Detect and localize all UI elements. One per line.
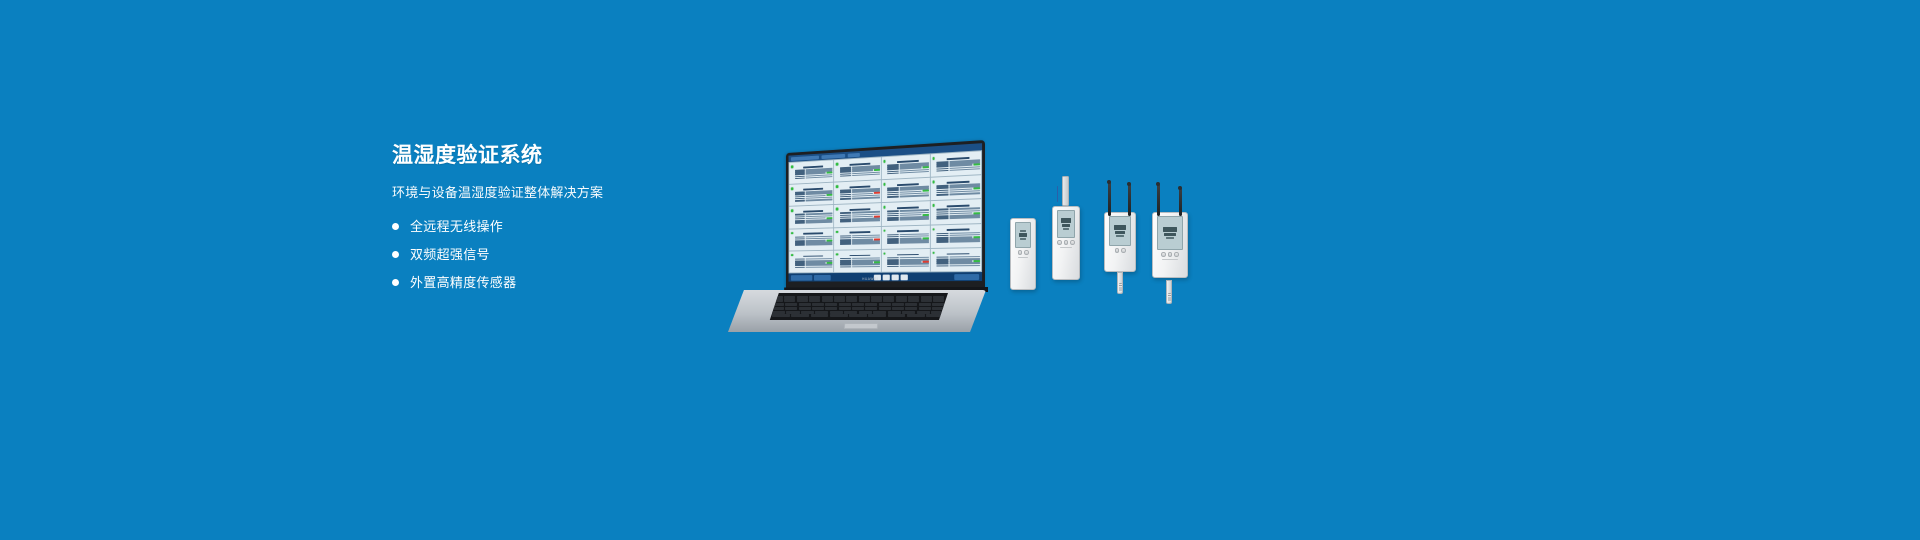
sensor-card[interactable] xyxy=(931,224,982,248)
sensor-card-title xyxy=(947,253,970,255)
bullet-dot-icon xyxy=(392,251,399,258)
device-brand-strip xyxy=(1162,259,1178,260)
device-keypad[interactable] xyxy=(1161,252,1179,257)
product-banner: 温湿度验证系统 环境与设备温湿度验证整体解决方案 全远程无线操作 双频超强信号 … xyxy=(0,0,1920,540)
device-keypad[interactable] xyxy=(1018,250,1029,255)
device-body xyxy=(1152,212,1188,278)
keyboard-key[interactable] xyxy=(871,296,882,299)
reading-label xyxy=(795,200,806,202)
keyboard-key[interactable] xyxy=(873,311,886,314)
reading-value xyxy=(852,220,880,222)
feature-item-2: 双频超强信号 xyxy=(392,248,692,261)
sensor-card[interactable] xyxy=(834,227,880,250)
keyboard-key[interactable] xyxy=(919,307,931,310)
reading-value xyxy=(852,243,880,245)
keyboard-key[interactable] xyxy=(785,307,797,310)
sensor-card-title xyxy=(804,210,824,212)
sensor-card-body xyxy=(793,184,833,205)
antenna-icon xyxy=(1108,182,1111,216)
laptop-trackpad[interactable] xyxy=(844,323,879,329)
device-lcd xyxy=(1057,210,1075,238)
keyboard-key[interactable] xyxy=(908,299,919,302)
keyboard-key[interactable] xyxy=(852,303,864,306)
reading-value xyxy=(950,240,981,242)
bullet-dot-icon xyxy=(392,279,399,286)
sensor-card-title xyxy=(804,233,824,235)
reading-label xyxy=(937,194,949,196)
sensor-reading-row xyxy=(840,220,880,223)
keyboard-key[interactable] xyxy=(799,307,811,310)
feature-label: 全远程无线操作 xyxy=(410,220,503,233)
reading-value xyxy=(950,265,981,267)
reading-value xyxy=(900,171,929,174)
sensor-card[interactable] xyxy=(834,180,880,204)
keyboard-key[interactable] xyxy=(830,311,843,314)
keyboard-key[interactable] xyxy=(822,299,833,302)
reading-label xyxy=(887,196,898,198)
keyboard-key[interactable] xyxy=(933,296,944,299)
reading-label xyxy=(840,243,851,245)
probe-sensor-tip xyxy=(1166,280,1172,304)
keyboard-key[interactable] xyxy=(785,303,797,306)
sensor-card[interactable] xyxy=(931,200,982,225)
sensor-card[interactable] xyxy=(834,250,880,272)
keyboard-key[interactable] xyxy=(879,303,891,306)
reading-label xyxy=(795,177,806,179)
reading-label xyxy=(887,172,898,174)
sensor-card-title xyxy=(849,231,870,233)
sensor-card-body xyxy=(885,179,928,201)
sensor-card-body xyxy=(793,161,833,183)
keyboard-key[interactable] xyxy=(907,314,925,317)
lcd-row xyxy=(1019,233,1026,236)
keyboard-key[interactable] xyxy=(933,299,944,302)
lcd-row xyxy=(1114,225,1126,230)
probe-sensor-tip xyxy=(1117,272,1123,294)
keyboard-key[interactable] xyxy=(830,314,848,317)
keyboard-key[interactable] xyxy=(839,303,851,306)
reading-value xyxy=(806,176,833,179)
keyboard-key[interactable] xyxy=(825,303,837,306)
reading-value xyxy=(852,196,880,199)
banner-copy-block: 温湿度验证系统 环境与设备温湿度验证整体解决方案 全远程无线操作 双频超强信号 … xyxy=(392,142,692,304)
sensor-card-body xyxy=(935,225,980,247)
keyboard-key[interactable] xyxy=(846,299,857,302)
sensor-card[interactable] xyxy=(931,175,982,200)
device-body xyxy=(1104,212,1136,272)
sensor-reading-row xyxy=(840,196,880,199)
reading-value xyxy=(806,266,833,268)
keyboard-key[interactable] xyxy=(888,311,901,314)
sensor-card[interactable] xyxy=(881,202,929,226)
sensor-reading-row xyxy=(840,243,880,245)
lcd-row xyxy=(1164,233,1176,236)
laptop-illustration: HUAWEI xyxy=(720,140,986,298)
sensor-card-body xyxy=(838,158,879,180)
keyboard-key[interactable] xyxy=(871,299,882,302)
reading-label xyxy=(937,217,949,219)
sensor-card-title xyxy=(804,255,824,257)
device-button[interactable] xyxy=(1161,252,1166,257)
keyboard-key[interactable] xyxy=(908,296,919,299)
keyboard-key[interactable] xyxy=(809,299,820,302)
toolbar-button[interactable] xyxy=(791,275,812,281)
sensor-reading-row xyxy=(887,218,929,221)
keyboard-key[interactable] xyxy=(791,314,809,317)
reading-label xyxy=(840,198,851,200)
sensor-card-body xyxy=(838,228,879,249)
reading-label xyxy=(795,222,806,224)
keyboard-key[interactable] xyxy=(786,311,799,314)
reading-label xyxy=(840,175,851,177)
sensor-reading-row xyxy=(795,198,833,201)
keyboard-row xyxy=(772,307,944,310)
sensor-card-body xyxy=(935,249,980,271)
sensor-card-body xyxy=(838,204,879,225)
keyboard-key[interactable] xyxy=(772,314,790,317)
keyboard-key[interactable] xyxy=(812,307,824,310)
laptop-keyboard[interactable] xyxy=(768,293,948,320)
page-title: 温湿度验证系统 xyxy=(392,142,692,169)
sensor-card[interactable] xyxy=(789,205,833,228)
feature-list: 全远程无线操作 双频超强信号 外置高精度传感器 xyxy=(392,220,692,289)
laptop-brand-label: HUAWEI xyxy=(862,277,878,281)
lcd-row xyxy=(1063,228,1069,230)
device-brand-strip xyxy=(1018,257,1028,258)
keyboard-key[interactable] xyxy=(797,299,808,302)
sensor-reading-row xyxy=(937,216,981,219)
keyboard-key[interactable] xyxy=(839,307,851,310)
app-bottom-toolbar xyxy=(788,272,982,282)
antenna-icon xyxy=(1179,188,1182,216)
keyboard-key[interactable] xyxy=(921,296,932,299)
reading-value xyxy=(950,216,981,219)
sensor-card[interactable] xyxy=(931,151,982,177)
reading-value xyxy=(900,242,929,244)
sensor-card-title xyxy=(897,207,919,210)
keyboard-key[interactable] xyxy=(883,299,894,302)
device-button[interactable] xyxy=(1024,250,1029,255)
keyboard-key[interactable] xyxy=(879,307,891,310)
sensor-card-body xyxy=(793,206,833,227)
handheld-logger-small xyxy=(1010,218,1036,290)
lcd-row xyxy=(1166,237,1175,239)
sensor-card[interactable] xyxy=(789,183,833,206)
probe-cable xyxy=(1057,186,1058,202)
device-body xyxy=(1010,218,1036,290)
sensor-card-body xyxy=(793,229,833,250)
sensor-card-title xyxy=(897,254,919,256)
feature-item-3: 外置高精度传感器 xyxy=(392,276,692,289)
device-lcd xyxy=(1109,216,1131,246)
keyboard-key[interactable] xyxy=(852,307,864,310)
sensor-card-grid xyxy=(788,150,982,273)
sensor-card-title xyxy=(947,205,970,208)
sensor-card-body xyxy=(935,201,980,223)
keyboard-row xyxy=(772,296,944,299)
sensor-card-body xyxy=(885,155,928,178)
keyboard-key[interactable] xyxy=(834,296,845,299)
reading-label xyxy=(840,266,851,268)
keyboard-key[interactable] xyxy=(801,311,814,314)
keyboard-key[interactable] xyxy=(905,303,917,306)
reading-value xyxy=(806,198,833,201)
sensor-card-title xyxy=(849,208,870,210)
reading-label xyxy=(887,242,898,244)
keyboard-key[interactable] xyxy=(865,307,877,310)
reading-value xyxy=(900,265,929,267)
lcd-row xyxy=(1062,224,1070,227)
reading-value xyxy=(900,194,929,197)
keyboard-key[interactable] xyxy=(825,307,837,310)
keyboard-row xyxy=(772,303,944,306)
keyboard-key[interactable] xyxy=(932,307,944,310)
reading-label xyxy=(795,266,806,268)
sensor-device-group xyxy=(1004,182,1224,322)
keyboard-key[interactable] xyxy=(892,303,904,306)
keyboard-key[interactable] xyxy=(868,314,886,317)
device-button[interactable] xyxy=(1121,248,1126,253)
sensor-card-body xyxy=(885,226,928,247)
keyboard-key[interactable] xyxy=(815,311,828,314)
keyboard-key[interactable] xyxy=(921,299,932,302)
toolbar-button[interactable] xyxy=(814,274,831,280)
sensor-card-body xyxy=(885,250,928,271)
reading-label xyxy=(937,241,949,243)
sensor-reading-row xyxy=(795,221,833,224)
sensor-card-body xyxy=(885,203,928,225)
sensor-card[interactable] xyxy=(789,160,833,184)
sensor-card[interactable] xyxy=(931,248,982,272)
pagination-page[interactable] xyxy=(901,274,908,280)
sensor-card-body xyxy=(935,176,980,199)
device-button[interactable] xyxy=(1174,252,1179,257)
reading-value xyxy=(950,192,981,195)
pagination-page[interactable] xyxy=(883,274,890,280)
feature-item-1: 全远程无线操作 xyxy=(392,220,692,233)
keyboard-key[interactable] xyxy=(902,311,915,314)
sensor-card-title xyxy=(849,254,870,256)
keyboard-key[interactable] xyxy=(883,296,894,299)
keyboard-key[interactable] xyxy=(932,303,944,306)
keyboard-key[interactable] xyxy=(799,303,811,306)
keyboard-row xyxy=(772,311,944,314)
sensor-reading-row xyxy=(887,242,929,244)
page-subtitle: 环境与设备温湿度验证整体解决方案 xyxy=(392,184,692,202)
laptop-screen xyxy=(788,143,982,281)
keyboard-key[interactable] xyxy=(812,303,824,306)
keyboard-key[interactable] xyxy=(844,311,857,314)
antenna-icon xyxy=(1128,184,1131,216)
keyboard-key[interactable] xyxy=(917,311,930,314)
sensor-card-title xyxy=(947,229,970,231)
reading-label xyxy=(795,244,806,246)
keyboard-key[interactable] xyxy=(772,311,785,314)
feature-label: 外置高精度传感器 xyxy=(410,276,516,289)
antenna-icon xyxy=(1157,184,1160,216)
reading-value xyxy=(852,173,880,176)
keyboard-row xyxy=(772,299,944,302)
keyboard-key[interactable] xyxy=(888,314,906,317)
handheld-logger-probe xyxy=(1052,198,1080,280)
lcd-row xyxy=(1020,230,1026,232)
sensor-reading-row xyxy=(887,194,929,197)
keyboard-key[interactable] xyxy=(784,296,795,299)
keyboard-key[interactable] xyxy=(811,314,829,317)
bullet-dot-icon xyxy=(392,223,399,230)
device-lcd xyxy=(1015,222,1032,248)
keyboard-key[interactable] xyxy=(859,296,870,299)
pagination-page[interactable] xyxy=(892,274,899,280)
handheld-logger-antenna-left xyxy=(1104,182,1136,272)
keyboard-key[interactable] xyxy=(859,311,872,314)
lcd-row xyxy=(1061,218,1071,223)
keyboard-key[interactable] xyxy=(896,299,907,302)
lcd-row xyxy=(1115,231,1125,234)
keyboard-row xyxy=(772,314,944,317)
device-brand-strip xyxy=(1060,247,1071,248)
keyboard-key[interactable] xyxy=(859,299,870,302)
keyboard-key[interactable] xyxy=(849,314,867,317)
probe-sensor xyxy=(1062,176,1069,206)
sensor-card[interactable] xyxy=(881,249,929,272)
toolbar-button[interactable] xyxy=(954,274,979,280)
keyboard-key[interactable] xyxy=(865,303,877,306)
lcd-row xyxy=(1116,235,1124,237)
reading-label xyxy=(840,220,851,222)
reading-label xyxy=(937,170,949,172)
device-keypad[interactable] xyxy=(1115,248,1126,253)
device-lcd xyxy=(1157,216,1182,250)
keyboard-key[interactable] xyxy=(896,296,907,299)
reading-label xyxy=(887,219,898,221)
keyboard-key[interactable] xyxy=(892,307,904,310)
sensor-card-body xyxy=(793,251,833,271)
keyboard-key[interactable] xyxy=(905,307,917,310)
sensor-card[interactable] xyxy=(789,251,833,273)
sensor-reading-row xyxy=(937,240,981,242)
sensor-card-body xyxy=(838,181,879,203)
device-button[interactable] xyxy=(1064,240,1069,245)
keyboard-key[interactable] xyxy=(809,296,820,299)
reading-value xyxy=(950,168,981,171)
pagination[interactable] xyxy=(874,274,908,280)
sensor-card-body xyxy=(838,251,879,272)
device-body xyxy=(1052,206,1080,280)
device-button[interactable] xyxy=(1018,250,1023,255)
device-button[interactable] xyxy=(1070,240,1075,245)
keyboard-key[interactable] xyxy=(784,299,795,302)
feature-label: 双频超强信号 xyxy=(410,248,490,261)
laptop-lid xyxy=(786,140,985,288)
sensor-reading-row xyxy=(840,266,880,268)
sensor-card[interactable] xyxy=(881,154,929,179)
keyboard-key[interactable] xyxy=(846,296,857,299)
sensor-reading-row xyxy=(795,266,833,268)
sensor-card[interactable] xyxy=(834,157,880,181)
sensor-card-title xyxy=(897,230,919,232)
device-keypad[interactable] xyxy=(1057,240,1075,245)
keyboard-key[interactable] xyxy=(834,299,845,302)
sensor-reading-row xyxy=(795,244,833,246)
reading-value xyxy=(900,218,929,220)
reading-value xyxy=(806,221,833,223)
keyboard-key[interactable] xyxy=(822,296,833,299)
keyboard-key[interactable] xyxy=(797,296,808,299)
sensor-card[interactable] xyxy=(834,204,880,227)
reading-value xyxy=(852,266,880,268)
lcd-row xyxy=(1020,238,1026,240)
titlebar-menu-group xyxy=(848,152,860,157)
sensor-reading-row xyxy=(937,265,981,267)
reading-value xyxy=(806,244,833,246)
device-button[interactable] xyxy=(1057,240,1062,245)
sensor-card-body xyxy=(935,152,980,175)
handheld-logger-antenna-right xyxy=(1152,184,1188,278)
sensor-card[interactable] xyxy=(881,225,929,249)
reading-label xyxy=(887,265,898,267)
device-button[interactable] xyxy=(1115,248,1120,253)
lcd-row xyxy=(1163,227,1177,232)
sensor-reading-row xyxy=(887,265,929,267)
keyboard-key[interactable] xyxy=(919,303,931,306)
reading-label xyxy=(937,265,949,267)
device-button[interactable] xyxy=(1168,252,1173,257)
sensor-card[interactable] xyxy=(881,178,929,203)
sensor-card[interactable] xyxy=(789,228,833,250)
